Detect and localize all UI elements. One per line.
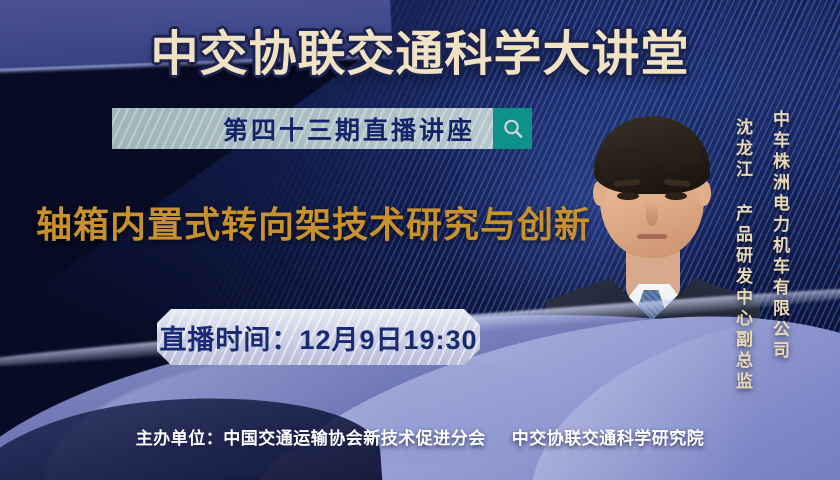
footer-organizer-1: 中国交通运输协会新技术促进分会 — [223, 429, 486, 448]
broadcast-time-badge: 直播时间：12月9日19:30 — [157, 309, 480, 365]
portrait-mouth — [637, 234, 667, 239]
page-title: 中交协联交通科学大讲堂 — [0, 14, 840, 84]
broadcast-time-text: 直播时间：12月9日19:30 — [159, 318, 477, 357]
speaker-name-title: 沈龙江 产品研发中心副总监 — [730, 118, 755, 393]
episode-banner-bar: 第四十三期直播讲座 — [112, 108, 493, 149]
portrait-eye-left — [617, 192, 639, 200]
portrait-eye-right — [665, 192, 687, 200]
portrait-nose — [646, 202, 658, 226]
speaker-company: 中车株洲电力机车有限公司 — [767, 110, 792, 362]
footer-organizers: 主办单位：中国交通运输协会新技术促进分会中交协联交通科学研究院 — [0, 424, 840, 449]
footer-organizer-label: 主办单位： — [136, 429, 224, 448]
lecture-headline: 轴箱内置式转向架技术研究与创新 — [36, 196, 591, 248]
portrait-hair — [594, 116, 710, 194]
episode-label: 第四十三期直播讲座 — [223, 111, 475, 147]
webinar-poster: 中交协联交通科学大讲堂 第四十三期直播讲座 轴箱内置式转向架技术研究与创新 直播… — [0, 0, 840, 480]
footer-organizer-2: 中交协联交通科学研究院 — [512, 429, 705, 448]
episode-banner: 第四十三期直播讲座 — [112, 108, 532, 149]
search-icon — [501, 117, 525, 141]
search-icon-box[interactable] — [493, 108, 532, 149]
